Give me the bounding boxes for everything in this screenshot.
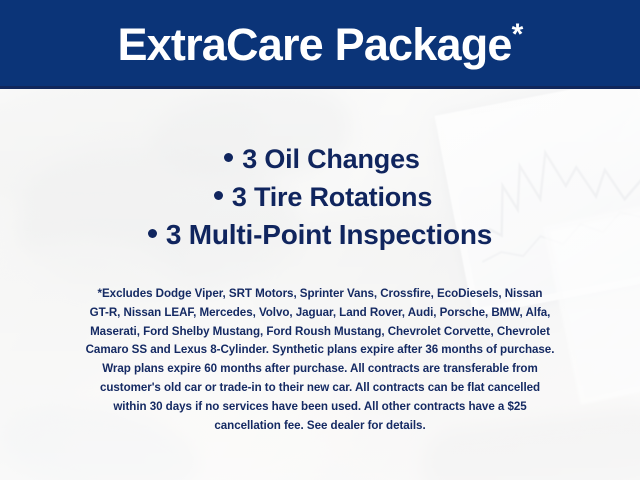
disclaimer-line: within 30 days if no services have been … bbox=[28, 398, 612, 417]
bullet-dot-icon bbox=[224, 153, 233, 162]
page-title: ExtraCare Package* bbox=[0, 17, 640, 72]
page-title-asterisk: * bbox=[512, 18, 523, 51]
header-band: ExtraCare Package* bbox=[0, 0, 640, 89]
list-item: 3 Multi-Point Inspections bbox=[0, 216, 640, 254]
list-item-label: 3 Oil Changes bbox=[242, 144, 419, 174]
disclaimer-text: *Excludes Dodge Viper, SRT Motors, Sprin… bbox=[28, 285, 612, 435]
bullet-dot-icon bbox=[214, 191, 223, 200]
benefits-list: 3 Oil Changes 3 Tire Rotations 3 Multi-P… bbox=[0, 140, 640, 254]
disclaimer-line: Wrap plans expire 60 months after purcha… bbox=[28, 360, 612, 379]
extracare-package-ad: ExtraCare Package* 3 Oil Changes 3 Tire … bbox=[0, 0, 640, 480]
list-item-label: 3 Multi-Point Inspections bbox=[166, 219, 492, 250]
page-title-text: ExtraCare Package bbox=[117, 19, 511, 70]
disclaimer-line: customer's old car or trade-in to their … bbox=[28, 379, 612, 398]
list-item: 3 Oil Changes bbox=[0, 140, 640, 178]
disclaimer-line: *Excludes Dodge Viper, SRT Motors, Sprin… bbox=[28, 285, 612, 304]
list-item: 3 Tire Rotations bbox=[0, 178, 640, 216]
disclaimer-line: Maserati, Ford Shelby Mustang, Ford Rous… bbox=[28, 323, 612, 342]
disclaimer-line: GT-R, Nissan LEAF, Mercedes, Volvo, Jagu… bbox=[28, 304, 612, 323]
disclaimer-line: cancellation fee. See dealer for details… bbox=[28, 417, 612, 436]
disclaimer-line: Camaro SS and Lexus 8-Cylinder. Syntheti… bbox=[28, 341, 612, 360]
list-item-label: 3 Tire Rotations bbox=[232, 182, 432, 212]
bullet-dot-icon bbox=[148, 229, 157, 238]
